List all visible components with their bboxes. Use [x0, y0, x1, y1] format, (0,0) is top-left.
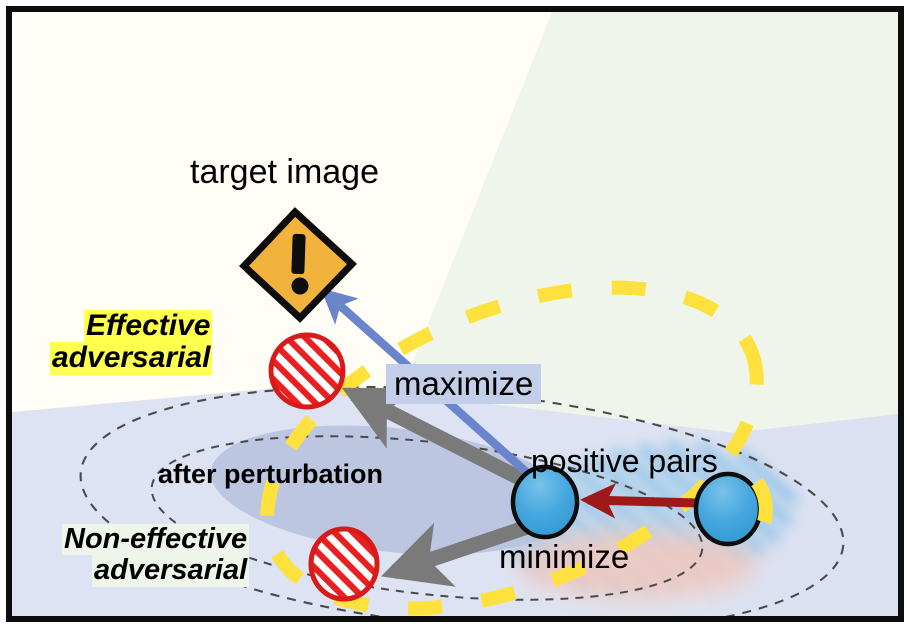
diagram-canvas: target image Effective adversarial Non-e… — [0, 0, 910, 628]
target-image-label: target image — [190, 154, 379, 191]
after-perturbation-label: after perturbation — [158, 460, 383, 489]
non-effective-adversarial-line2: adversarial — [92, 555, 249, 586]
effective-adversarial-line1: Effective — [84, 310, 213, 342]
red-hatched-circle-icon-non-effective — [311, 529, 377, 599]
blue-circle-icon-positive — [696, 474, 760, 544]
red-arrow-icon-minimize — [588, 500, 698, 503]
maximize-label: maximize — [386, 364, 541, 404]
non-effective-adversarial-line1: Non-effective — [62, 524, 249, 555]
effective-adversarial-line2: adversarial — [50, 342, 212, 374]
minimize-label: minimize — [499, 539, 629, 575]
non-effective-adversarial-label: Non-effective adversarial — [62, 524, 249, 587]
positive-pairs-label: positive pairs — [531, 444, 718, 479]
diagram-frame: target image Effective adversarial Non-e… — [6, 6, 904, 622]
effective-adversarial-label: Effective adversarial — [50, 310, 212, 375]
red-hatched-circle-icon-effective — [271, 335, 343, 407]
